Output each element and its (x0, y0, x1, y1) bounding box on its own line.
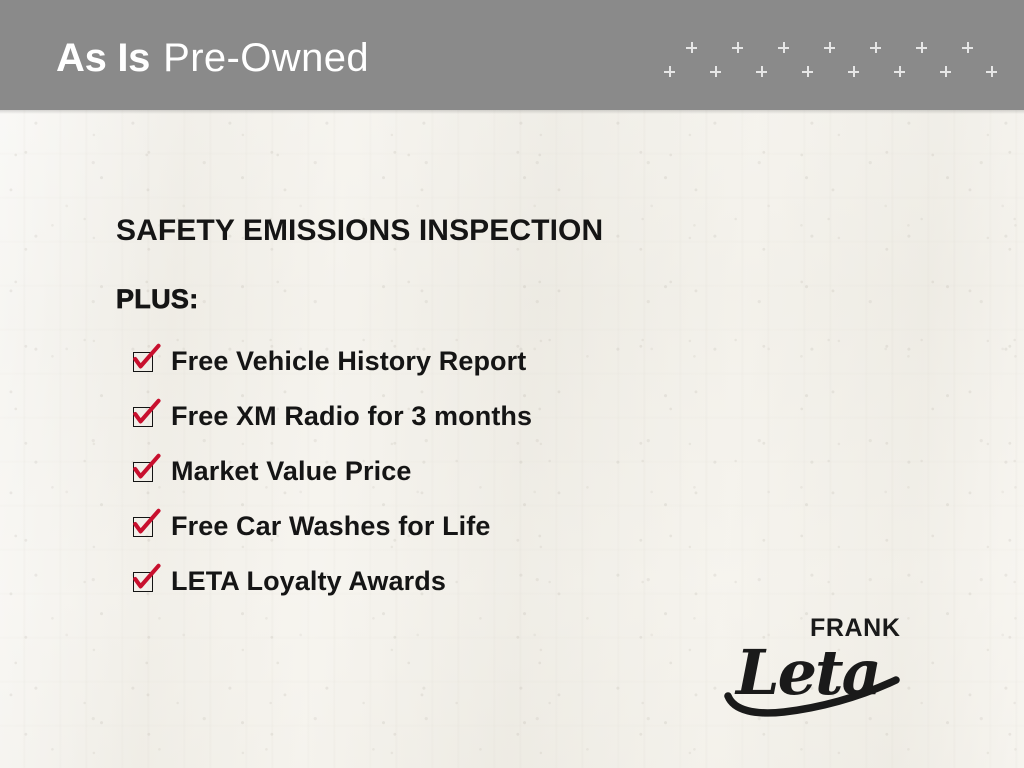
plus-icon (986, 66, 997, 77)
checkbox-checked (133, 347, 157, 374)
checkmark-icon (132, 509, 162, 539)
checkbox-checked (133, 567, 157, 594)
plus-icon (686, 42, 697, 53)
list-item: LETA Loyalty Awards (133, 563, 733, 618)
list-item: Free Car Washes for Life (133, 508, 733, 563)
plus-icon (732, 42, 743, 53)
list-item-label: Free Car Washes for Life (171, 511, 491, 542)
checkbox-checked (133, 402, 157, 429)
list-item-label: Market Value Price (171, 456, 411, 487)
headline-text: SAFETY EMISSIONS INSPECTION (116, 214, 603, 248)
list-item-label: LETA Loyalty Awards (171, 566, 446, 597)
checkmark-icon (132, 454, 162, 484)
plus-section-label: PLUS: (116, 284, 199, 314)
benefits-checklist: Free Vehicle History Report Free XM Radi… (133, 343, 733, 618)
page-title-bold: As Is (56, 36, 150, 80)
checkmark-icon (132, 344, 162, 374)
plus-icon (756, 66, 767, 77)
list-item: Market Value Price (133, 453, 733, 508)
slide-canvas: As IsPre-Owned (0, 0, 1024, 768)
plus-icon (962, 42, 973, 53)
plus-icon (778, 42, 789, 53)
checkmark-icon (132, 399, 162, 429)
header-band: As IsPre-Owned (0, 0, 1024, 110)
frank-leta-logo: FRANK Leta (718, 608, 928, 723)
checkmark-icon (132, 564, 162, 594)
page-title: As IsPre-Owned (56, 36, 369, 80)
plus-icon (802, 66, 813, 77)
checkbox-checked (133, 457, 157, 484)
logo-script-word: Leta (728, 636, 896, 713)
plus-icon (894, 66, 905, 77)
list-item-label: Free XM Radio for 3 months (171, 401, 532, 432)
plus-icon (664, 66, 675, 77)
plus-icon (848, 66, 859, 77)
plus-icon (824, 42, 835, 53)
plus-icon (940, 66, 951, 77)
page-title-light: Pre-Owned (163, 36, 369, 80)
plus-decoration-group (668, 42, 998, 88)
plus-icon (870, 42, 881, 53)
list-item: Free XM Radio for 3 months (133, 398, 733, 453)
plus-decoration-row-bottom (668, 66, 998, 80)
checkbox-checked (133, 512, 157, 539)
plus-decoration-row-top (668, 42, 998, 56)
plus-icon (916, 42, 927, 53)
list-item-label: Free Vehicle History Report (171, 346, 526, 377)
list-item: Free Vehicle History Report (133, 343, 733, 398)
slide-content: SAFETY EMISSIONS INSPECTION PLUS: Free V… (0, 110, 1024, 768)
plus-icon (710, 66, 721, 77)
